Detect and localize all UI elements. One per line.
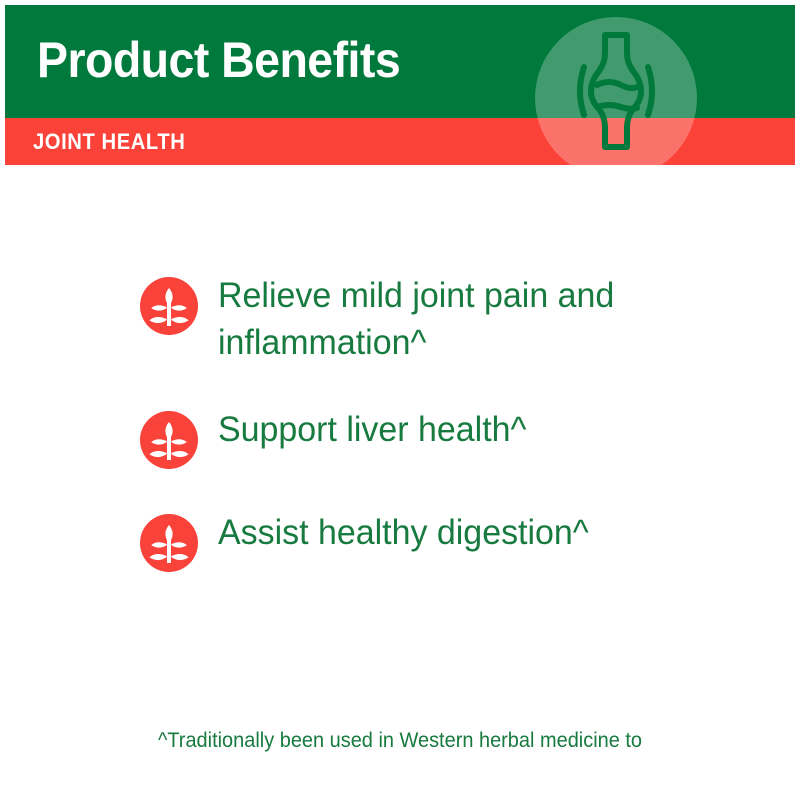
herb-leaf-icon: [140, 514, 198, 572]
joint-bone-icon: [575, 27, 657, 155]
benefit-text: Assist healthy digestion^: [218, 509, 589, 556]
benefit-text: Relieve mild joint pain and inflammation…: [218, 272, 722, 366]
page-title: Product Benefits: [37, 31, 400, 89]
benefit-text: Support liver health^: [218, 406, 526, 453]
benefit-item: Assist healthy digestion^: [140, 509, 760, 572]
benefit-item: Relieve mild joint pain and inflammation…: [140, 272, 760, 366]
header-banner: Product Benefits JOINT HEALTH: [5, 5, 795, 165]
category-subtitle: JOINT HEALTH: [33, 129, 185, 155]
footnote-text: ^Traditionally been used in Western herb…: [20, 727, 780, 755]
product-benefits-card: Product Benefits JOINT HEALTH Relieve mi…: [0, 0, 800, 800]
herb-leaf-icon: [140, 411, 198, 469]
benefit-item: Support liver health^: [140, 406, 760, 469]
herb-leaf-icon: [140, 277, 198, 335]
benefits-list: Relieve mild joint pain and inflammation…: [140, 272, 760, 572]
